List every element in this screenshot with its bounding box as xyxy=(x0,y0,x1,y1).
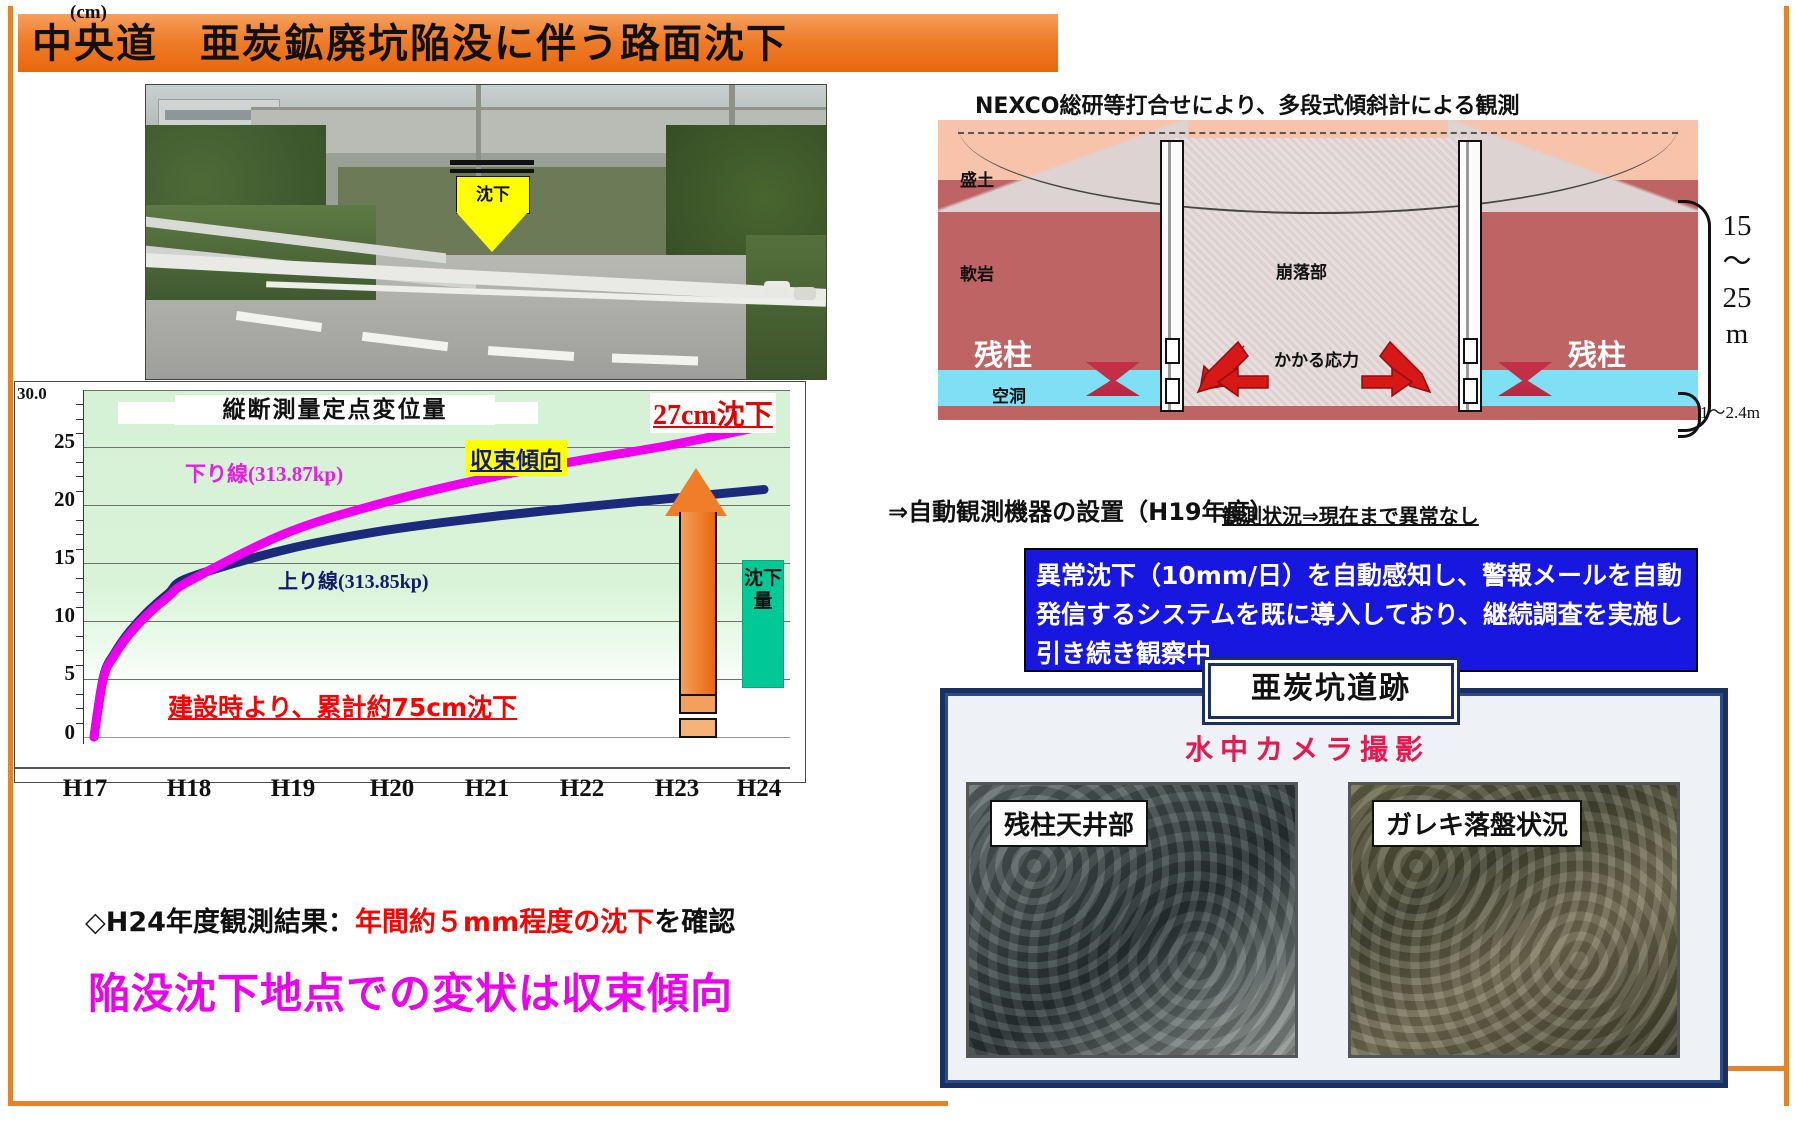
geo-label-applied-stress: かかる応力 xyxy=(1274,346,1359,371)
y-tick-label-30: 30.0 xyxy=(17,384,47,404)
x-tick-H17: H17 xyxy=(40,775,130,803)
minor-tick xyxy=(76,665,84,666)
geo-label-collapse-zone: 崩落部 xyxy=(1276,258,1327,283)
minor-tick xyxy=(76,491,84,492)
cavity-height-label: 1〜2.4m xyxy=(1700,398,1794,423)
geo-label-cavity: 空洞 xyxy=(992,382,1026,407)
observation-status-caption: 観測状況⇒現在まで異常なし xyxy=(1222,500,1479,529)
photo-vehicle xyxy=(764,281,790,297)
depth-range-tilde: 〜 xyxy=(1700,244,1774,280)
minor-tick xyxy=(76,592,84,593)
depth-measurement-label: 15 〜 25 m xyxy=(1700,208,1774,352)
photo-roadside-vegetation xyxy=(746,235,827,380)
arrow-segment-2 xyxy=(679,718,717,738)
minor-tick xyxy=(76,462,84,463)
photo-caption-left: 残柱天井部 xyxy=(990,800,1148,847)
minor-tick xyxy=(76,534,84,535)
geo-label-pillar-right: 残柱 xyxy=(1568,332,1626,374)
y-tick-label-10: 10 xyxy=(15,603,75,628)
down-arrow-icon xyxy=(456,212,528,252)
photo-caption-right: ガレキ落盤状況 xyxy=(1372,800,1582,847)
series-label-down-line: 下り線(313.87kp) xyxy=(185,458,343,488)
subsidence-callout-arrow: 沈下 xyxy=(446,160,538,256)
geological-cross-section-diagram: 盛土 軟岩 崩落部 かかる応力 空洞 残柱 残柱 xyxy=(938,120,1698,420)
x-tick-H23: H23 xyxy=(632,775,722,803)
chart-title: 縦断測量定点変位量 xyxy=(175,395,495,425)
section-label-coal-mine: 亜炭坑道跡 xyxy=(1208,663,1454,719)
x-tick-H18: H18 xyxy=(144,775,234,803)
series-label-up-line: 上り線(313.85kp) xyxy=(278,565,429,594)
geo-label-soft-rock: 軟岩 xyxy=(960,260,994,285)
annotation-27cm: 27cm沈下 xyxy=(650,393,776,433)
callout-bar-bottom xyxy=(450,169,534,173)
depth-value-max: 25 xyxy=(1700,280,1774,316)
minor-tick xyxy=(76,476,84,477)
arrow-segment-1 xyxy=(679,694,717,714)
x-tick-H24: H24 xyxy=(714,775,804,803)
y-tick-label-5: 5 xyxy=(15,661,75,686)
depth-value-min: 15 xyxy=(1700,208,1774,244)
depth-unit: m xyxy=(1700,316,1774,352)
cavity-height-brace xyxy=(1678,392,1701,438)
minor-tick xyxy=(76,549,84,550)
minor-tick xyxy=(76,520,84,521)
result-suffix: を確認 xyxy=(654,907,735,938)
geo-label-pillar-left: 残柱 xyxy=(974,332,1032,374)
minor-tick xyxy=(76,708,84,709)
minor-tick xyxy=(76,636,84,637)
x-tick-H21: H21 xyxy=(442,775,532,803)
arrow-shaft xyxy=(679,512,717,710)
result-highlight: 年間約５mm程度の沈下 xyxy=(355,907,654,938)
annotation-cumulative-75cm: 建設時より、累計約75cm沈下 xyxy=(168,688,517,724)
x-tick-H19: H19 xyxy=(248,775,338,803)
chart-unit-label: (cm) xyxy=(70,2,107,24)
chart-x-tick-labels: H17 H18 H19 H20 H21 H22 H23 H24 xyxy=(14,775,804,809)
sink-amount-arrow-icon xyxy=(665,468,727,708)
minor-tick xyxy=(76,723,84,724)
minor-tick xyxy=(76,404,84,405)
alert-system-callout: 異常沈下（10mm/日）を自動感知し、警報メールを自動発信するシステムを既に導入… xyxy=(1024,548,1698,672)
auto-monitoring-caption: ⇒自動観測機器の設置（H19年度） xyxy=(888,492,1274,527)
callout-label: 沈下 xyxy=(456,176,530,214)
minor-tick xyxy=(76,694,84,695)
photo-vehicle xyxy=(794,287,816,300)
x-tick-H20: H20 xyxy=(347,775,437,803)
underwater-camera-label: 水中カメラ撮影 xyxy=(1185,728,1430,768)
minor-tick xyxy=(76,419,84,420)
y-tick-label-0: 0 xyxy=(15,720,75,745)
result-prefix: ◇H24年度観測結果： xyxy=(85,907,355,938)
page-title: 中央道 亜炭鉱廃坑陥没に伴う路面沈下 xyxy=(32,18,1062,70)
frame-border-left xyxy=(8,6,13,1106)
minor-tick xyxy=(76,650,84,651)
chart-x-axis xyxy=(14,767,790,769)
minor-tick xyxy=(76,433,84,434)
conclusion-text: 陥没沈下地点での変状は収束傾向 xyxy=(88,960,733,1021)
x-tick-H22: H22 xyxy=(537,775,627,803)
frame-border-bottom-left xyxy=(8,1101,948,1106)
road-subsidence-photo: 沈下 xyxy=(145,84,827,380)
geo-label-embankment: 盛土 xyxy=(960,166,994,191)
minor-tick xyxy=(76,607,84,608)
y-tick-label-25: 25 xyxy=(15,429,75,454)
callout-bar-top xyxy=(450,160,534,165)
y-tick-label-20: 20 xyxy=(15,487,75,512)
h24-result-caption: ◇H24年度観測結果：年間約５mm程度の沈下を確認 xyxy=(85,900,735,939)
nexco-caption: NEXCO総研等打合せにより、多段式傾斜計による観測 xyxy=(975,88,1520,120)
frame-border-right xyxy=(1784,6,1789,1106)
arrow-head xyxy=(665,468,727,516)
slide-root: 中央道 亜炭鉱廃坑陥没に伴う路面沈下 沈下 xyxy=(0,0,1800,1121)
minor-tick xyxy=(76,578,84,579)
y-tick-label-15: 15 xyxy=(15,545,75,570)
sink-amount-label: 沈下量 xyxy=(742,560,784,688)
annotation-converging: 収束傾向 xyxy=(465,440,567,476)
